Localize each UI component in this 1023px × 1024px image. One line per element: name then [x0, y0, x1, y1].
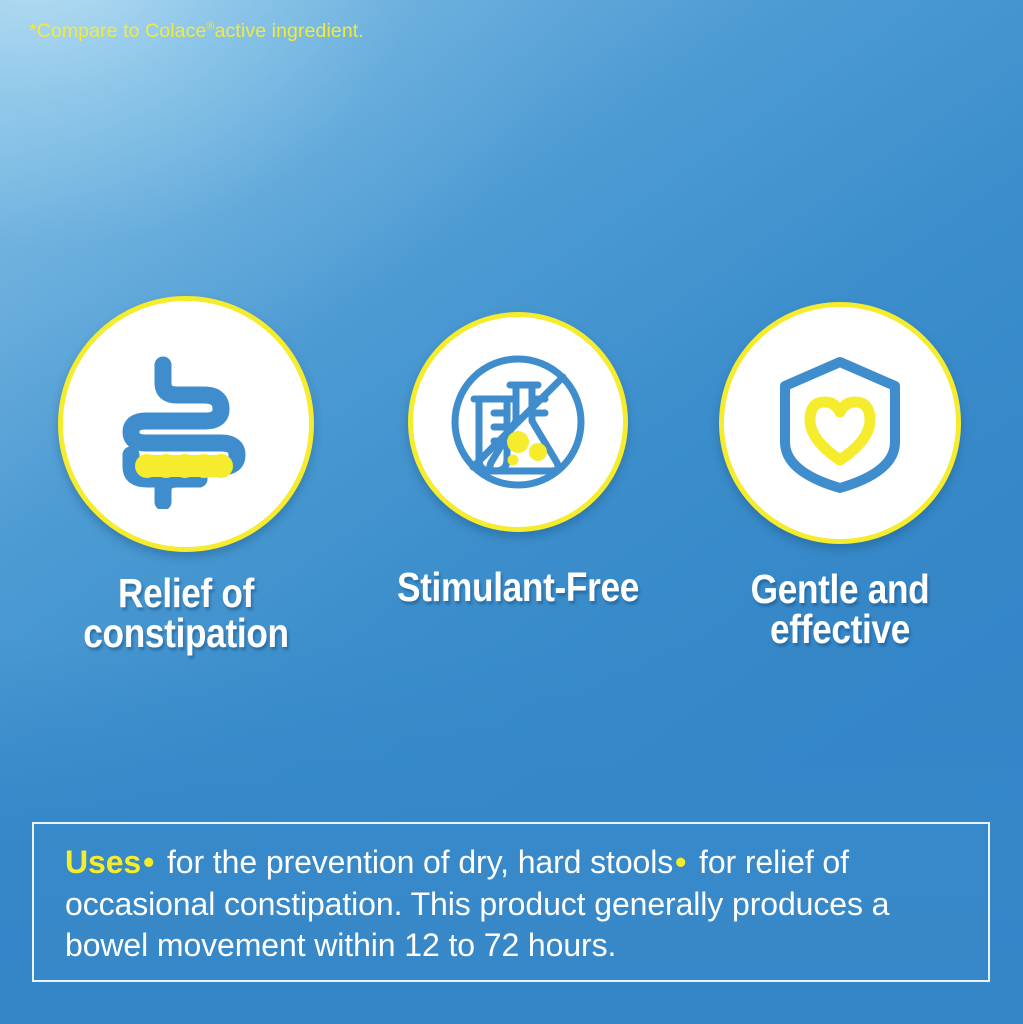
footnote-compare-to: *Compare to Colace®active ingredient. — [29, 20, 364, 43]
benefit-label: Stimulant-Free — [389, 568, 647, 608]
benefit-label-line-2: constipation — [60, 614, 311, 654]
uses-heading: Uses — [65, 844, 141, 880]
benefit-label: Gentle and effective — [711, 570, 969, 650]
benefit-item-gentle-and-effective: Gentle and effective — [690, 296, 990, 650]
benefit-label-line-2: effective — [711, 610, 969, 650]
footnote-text-after: active ingredient. — [215, 20, 364, 42]
bullet-icon: • — [141, 844, 158, 880]
benefit-icon-badge — [408, 312, 628, 532]
footnote-text-before: *Compare to Colace — [29, 20, 206, 42]
registered-trademark-icon: ® — [206, 21, 214, 33]
product-benefits-poster: *Compare to Colace®active ingredient. — [0, 0, 1023, 1024]
benefits-row: Relief of constipation — [0, 296, 1023, 696]
benefit-item-stimulant-free: Stimulant-Free — [368, 296, 668, 608]
uses-text-block: Uses• for the prevention of dry, hard st… — [65, 842, 970, 967]
uses-info-box: Uses• for the prevention of dry, hard st… — [32, 822, 990, 982]
benefit-icon-badge — [58, 296, 314, 552]
no-chemicals-flask-icon — [433, 337, 603, 507]
shield-heart-icon — [755, 338, 925, 508]
uses-item-1: for the prevention of dry, hard stools — [167, 844, 673, 880]
intestine-icon — [101, 339, 271, 509]
benefit-item-relief-of-constipation: Relief of constipation — [40, 296, 332, 654]
benefit-label-line-1: Gentle and — [711, 570, 969, 610]
benefit-label-line-1: Stimulant-Free — [389, 568, 647, 608]
bullet-icon: • — [673, 844, 690, 880]
benefit-label: Relief of constipation — [60, 574, 311, 654]
benefit-icon-badge — [719, 302, 961, 544]
benefit-label-line-1: Relief of — [60, 574, 311, 614]
